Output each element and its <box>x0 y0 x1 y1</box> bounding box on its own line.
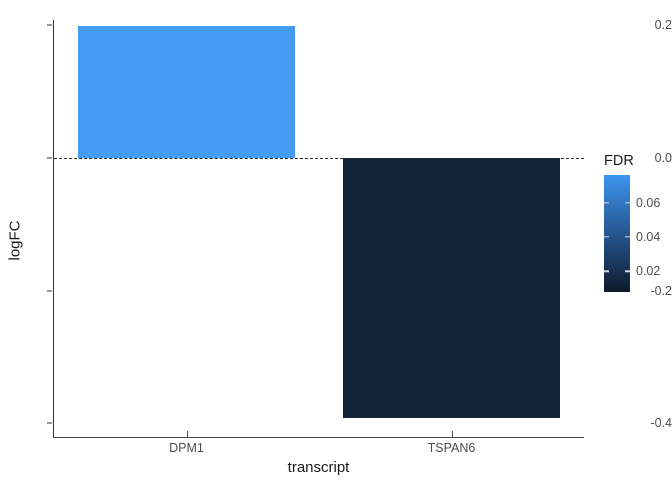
x-tick-label: DPM1 <box>169 441 204 455</box>
legend-tick-mark <box>604 236 609 237</box>
legend-tick-mark <box>625 202 630 203</box>
x-tick-mark <box>452 431 453 437</box>
zero-reference-line <box>54 158 584 159</box>
y-tick-label: -0.2 <box>626 284 672 298</box>
legend-tick-mark <box>604 202 609 203</box>
legend-tick-mark <box>625 271 630 272</box>
y-tick-mark <box>47 158 52 159</box>
bar-tspan6 <box>343 158 560 418</box>
legend-tick-label: 0.02 <box>636 264 660 278</box>
legend-tick-label: 0.06 <box>636 196 660 210</box>
bar-dpm1 <box>78 26 295 158</box>
x-tick-label: TSPAN6 <box>428 441 476 455</box>
y-axis-line <box>53 20 54 438</box>
legend-colorbar <box>604 175 630 292</box>
legend-tick-label: 0.04 <box>636 230 660 244</box>
x-axis-line <box>53 437 584 438</box>
y-tick-mark <box>47 423 52 424</box>
x-tick-mark <box>187 431 188 437</box>
chart-canvas: logFC 0.20.0-0.2-0.4 DPM1TSPAN6 transcri… <box>0 0 672 480</box>
legend-title: FDR <box>604 153 634 169</box>
y-tick-label: -0.4 <box>626 416 672 430</box>
x-axis-title: transcript <box>53 459 584 476</box>
y-tick-label: 0.2 <box>626 18 672 32</box>
y-axis-title: logFC <box>4 0 26 480</box>
y-tick-mark <box>47 290 52 291</box>
legend-tick-mark <box>604 271 609 272</box>
legend-tick-mark <box>625 236 630 237</box>
y-axis-title-label: logFC <box>7 220 24 260</box>
y-tick-mark <box>47 25 52 26</box>
